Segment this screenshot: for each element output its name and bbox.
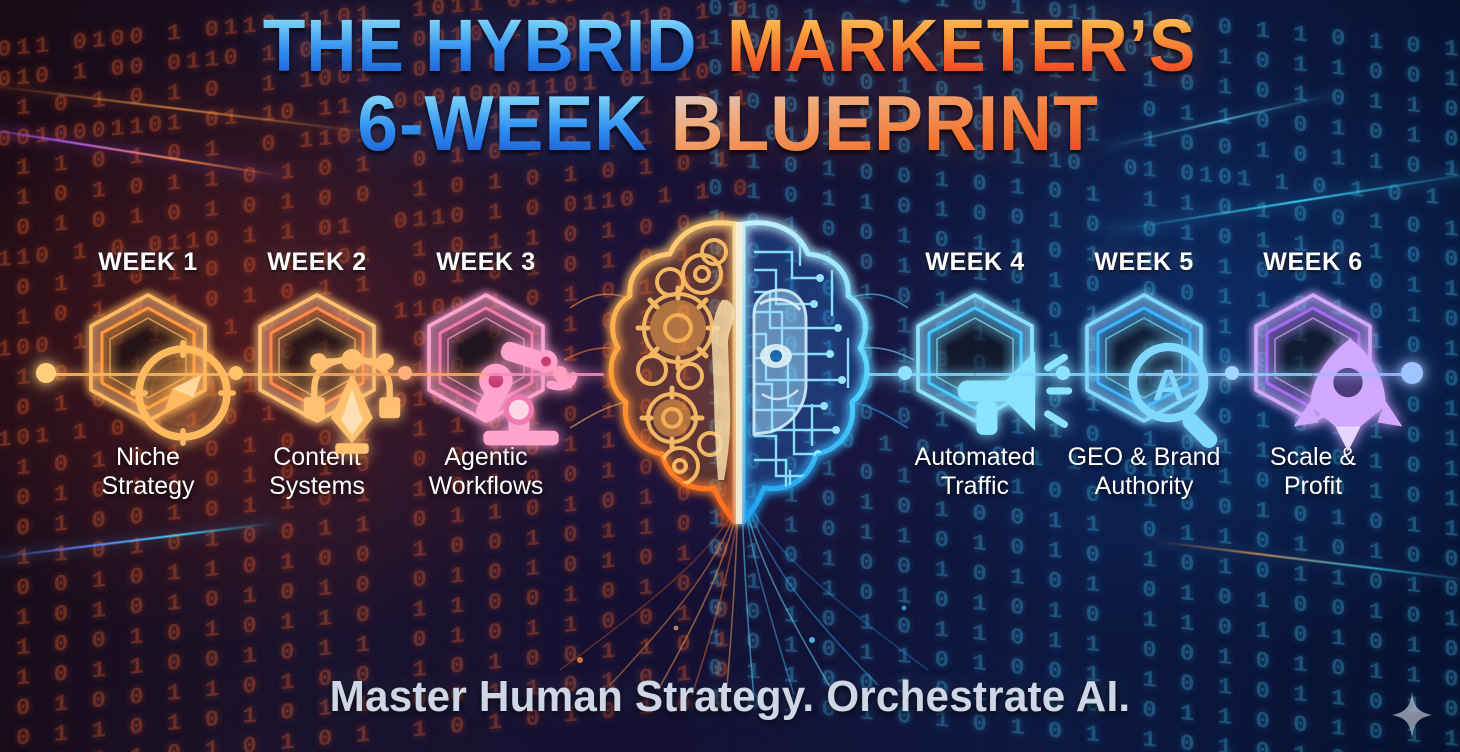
six-week-timeline: WEEK 1 bbox=[0, 248, 1460, 528]
page-title: THE HYBRID MARKETER’S 6-WEEK BLUEPRINT bbox=[0, 10, 1460, 161]
connector-track-1 bbox=[46, 373, 148, 376]
connector-node-dot-7 bbox=[1225, 366, 1239, 380]
compass-icon bbox=[116, 326, 180, 390]
hexagon-badge[interactable]: A bbox=[1077, 291, 1211, 425]
title-line-1: THE HYBRID MARKETER’S bbox=[0, 10, 1460, 81]
hexagon-badge[interactable] bbox=[908, 291, 1042, 425]
connector-track-5 bbox=[868, 373, 975, 376]
connector-node-dot-2 bbox=[229, 366, 243, 380]
svg-text:A: A bbox=[1153, 360, 1185, 409]
robot-arm-icon bbox=[454, 326, 518, 390]
week-number-label: WEEK 2 bbox=[229, 248, 405, 277]
light-streak-cyan bbox=[1102, 169, 1460, 234]
light-streak-amber-right bbox=[1151, 540, 1460, 582]
tagline: Master Human Strategy. Orchestrate AI. bbox=[29, 672, 1431, 722]
title-line-2-blue: 6-WEEK bbox=[357, 86, 648, 161]
title-line-2-orange: BLUEPRINT bbox=[671, 86, 1099, 161]
week-number-label: WEEK 1 bbox=[60, 248, 236, 277]
connector-track-4 bbox=[486, 373, 604, 376]
magnifier-a-icon: A bbox=[1112, 326, 1176, 390]
week-number-label: WEEK 4 bbox=[887, 248, 1063, 277]
hexagon-badge[interactable] bbox=[1246, 291, 1380, 425]
connector-node-dot-6 bbox=[1056, 366, 1070, 380]
rocket-icon bbox=[1281, 326, 1345, 390]
connector-track-8 bbox=[1313, 373, 1412, 376]
connector-node-dot-1 bbox=[36, 363, 56, 383]
hexagon-badge[interactable] bbox=[250, 291, 384, 425]
week-number-label: WEEK 3 bbox=[398, 248, 574, 277]
title-line-1-blue: THE HYBRID bbox=[263, 10, 698, 81]
week-number-label: WEEK 6 bbox=[1225, 248, 1401, 277]
hexagon-badge[interactable] bbox=[419, 291, 553, 425]
infographic-canvas: 1011 0100 1 0110 1101 1011 0100 1 0110 1… bbox=[0, 0, 1460, 752]
connector-node-dot-3 bbox=[398, 366, 412, 380]
week-number-label: WEEK 5 bbox=[1056, 248, 1232, 277]
title-line-1-orange: MARKETER’S bbox=[726, 10, 1195, 81]
connector-node-dot-5 bbox=[898, 366, 912, 380]
title-line-2: 6-WEEK BLUEPRINT bbox=[0, 86, 1460, 161]
connector-node-dot-8 bbox=[1401, 362, 1423, 384]
pen-tool-icon bbox=[285, 326, 349, 390]
sparkle-star-icon bbox=[1392, 692, 1432, 738]
megaphone-icon bbox=[943, 326, 1007, 390]
hexagon-badge[interactable] bbox=[81, 291, 215, 425]
connector-node-dot-4 bbox=[553, 366, 567, 380]
